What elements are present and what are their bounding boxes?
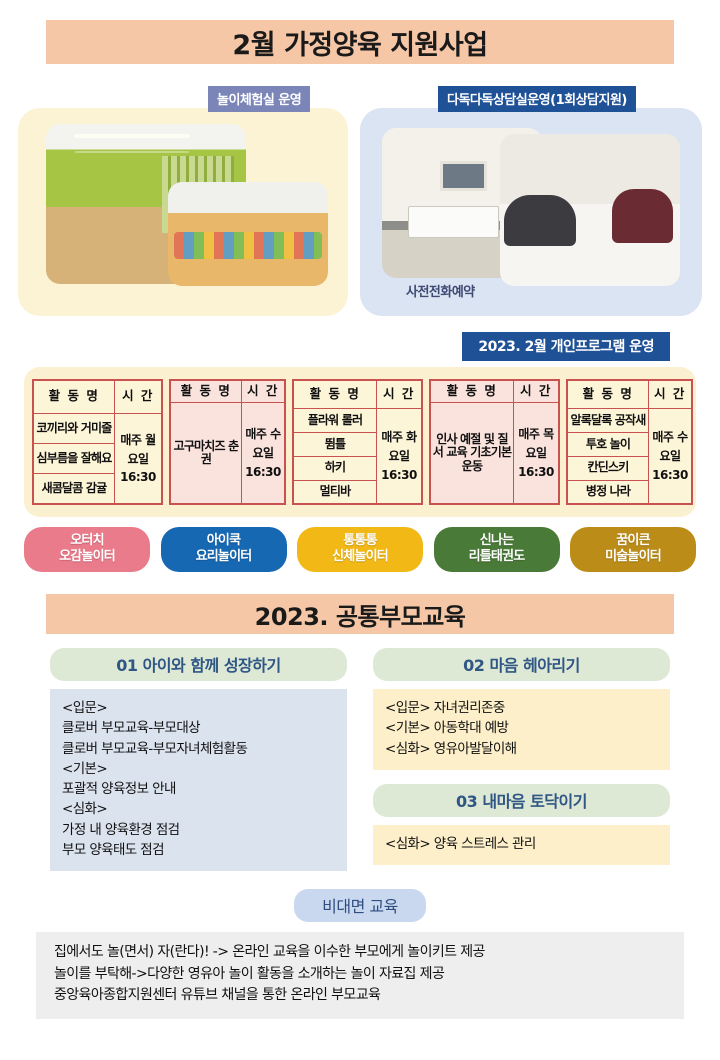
activity-cell: 인사 예절 및 질서 교육 기초기본 운동 (430, 403, 514, 505)
activity-cell: 플라워 롤러 (293, 409, 377, 433)
pill-line-1: 아이쿡 (165, 533, 283, 549)
activity-cell: 병정 나라 (567, 480, 649, 504)
table-header-row: 활 동 명 시 간 (293, 380, 422, 409)
col-header-time: 시 간 (115, 380, 163, 414)
photo-tag-play-room: 놀이체험실 운영 (208, 86, 310, 112)
col-header-time: 시 간 (514, 380, 560, 403)
activity-cell: 알록달록 공작새 (567, 409, 649, 433)
col-header-time: 시 간 (377, 380, 423, 409)
edu-column-left: 01 아이와 함께 성장하기 <입문> 클로버 부모교육-부모대상 클로버 부모… (50, 648, 347, 871)
program-banner-row: 2023. 2월 개인프로그램 운영 (0, 332, 702, 361)
time-cell: 매주 수요일 16:30 (242, 403, 286, 505)
table-row: 플라워 롤러 매주 화요일 16:30 (293, 409, 422, 433)
activity-cell: 코끼리와 거미줄 (33, 414, 115, 444)
col-header-activity: 활 동 명 (567, 380, 649, 409)
program-pill-body[interactable]: 통통통 신체놀이터 (297, 527, 423, 572)
pill-line-1: 통통통 (301, 533, 419, 549)
time-cell: 매주 화요일 16:30 (377, 409, 423, 505)
table-header-row: 활 동 명 시 간 (170, 380, 285, 403)
program-pill-icook[interactable]: 아이쿡 요리놀이터 (161, 527, 287, 572)
program-pill-taekwondo[interactable]: 신나는 리틀태권도 (434, 527, 560, 572)
time-cell: 매주 수요일 16:30 (649, 409, 693, 505)
photo-row: 놀이체험실 운영 다독다독상담실운영(1회상담지원) 사전전화예약 (18, 86, 702, 316)
program-banner: 2023. 2월 개인프로그램 운영 (462, 332, 670, 361)
col-header-activity: 활 동 명 (430, 380, 514, 403)
counseling-room-photo-b (500, 134, 680, 286)
activity-cell: 뜀틀 (293, 433, 377, 457)
time-cell: 매주 목요일 16:30 (514, 403, 560, 505)
table-row: 인사 예절 및 질서 교육 기초기본 운동 매주 목요일 16:30 (430, 403, 559, 505)
edu-section-head-01: 01 아이와 함께 성장하기 (50, 648, 347, 681)
table-header-row: 활 동 명 시 간 (430, 380, 559, 403)
col-header-time: 시 간 (242, 380, 286, 403)
schedule-tables-band: 활 동 명 시 간 코끼리와 거미줄 매주 월요일 16:30 심부름을 잘해요… (24, 367, 696, 517)
col-header-activity: 활 동 명 (293, 380, 377, 409)
activity-cell: 하키 (293, 456, 377, 480)
online-education-body: 집에서도 놀(면서) 자(란다)! -> 온라인 교육을 이수한 부모에게 놀이… (36, 932, 684, 1019)
table-row: 알록달록 공작새 매주 수요일 16:30 (567, 409, 692, 433)
edu-section-body-01: <입문> 클로버 부모교육-부모대상 클로버 부모교육-부모자녀체험활동 <기본… (50, 689, 347, 871)
online-education-head-row: 비대면 교육 (0, 889, 720, 922)
col-header-time: 시 간 (649, 380, 693, 409)
photo-caption-reservation: 사전전화예약 (406, 281, 475, 300)
time-cell: 매주 월요일 16:30 (115, 414, 163, 505)
program-pill-art[interactable]: 꿈이큰 미술놀이터 (570, 527, 696, 572)
activity-cell: 멀티바 (293, 480, 377, 504)
program-pills-row: 오터치 오감놀이터 아이쿡 요리놀이터 통통통 신체놀이터 신나는 리틀태권도 … (24, 527, 696, 572)
photo-block-play-room: 놀이체험실 운영 (18, 86, 348, 316)
table-row: 코끼리와 거미줄 매주 월요일 16:30 (33, 414, 162, 444)
activity-cell: 칸딘스키 (567, 456, 649, 480)
schedule-table-3: 활 동 명 시 간 플라워 롤러 매주 화요일 16:30 뜀틀 하키 멀티바 (292, 379, 423, 505)
activity-cell: 심부름을 잘해요 (33, 444, 115, 474)
table-row: 고구마치즈 춘권 매주 수요일 16:30 (170, 403, 285, 505)
schedule-table-5: 활 동 명 시 간 알록달록 공작새 매주 수요일 16:30 투호 놀이 칸딘… (566, 379, 693, 505)
edu-section-head-03: 03 내마음 토닥이기 (373, 784, 670, 817)
schedule-table-1: 활 동 명 시 간 코끼리와 거미줄 매주 월요일 16:30 심부름을 잘해요… (32, 379, 163, 505)
table-header-row: 활 동 명 시 간 (33, 380, 162, 414)
edu-section-body-03: <심화> 양육 스트레스 관리 (373, 825, 670, 865)
online-education-head: 비대면 교육 (294, 889, 426, 922)
edu-section-head-02: 02 마음 헤아리기 (373, 648, 670, 681)
schedule-table-4: 활 동 명 시 간 인사 예절 및 질서 교육 기초기본 운동 매주 목요일 1… (429, 379, 560, 505)
edu-section-body-02: <입문> 자녀권리존중 <기본> 아동학대 예방 <심화> 영유아발달이해 (373, 689, 670, 770)
pill-line-2: 신체놀이터 (301, 549, 419, 565)
parent-education-title: 2023. 공통부모교육 (46, 594, 674, 634)
edu-column-right: 02 마음 헤아리기 <입문> 자녀권리존중 <기본> 아동학대 예방 <심화>… (373, 648, 670, 871)
parent-education-grid: 01 아이와 함께 성장하기 <입문> 클로버 부모교육-부모대상 클로버 부모… (50, 648, 670, 871)
table-header-row: 활 동 명 시 간 (567, 380, 692, 409)
pill-line-2: 리틀태권도 (438, 549, 556, 565)
activity-cell: 투호 놀이 (567, 433, 649, 457)
col-header-activity: 활 동 명 (170, 380, 242, 403)
pill-line-2: 오감놀이터 (28, 549, 146, 565)
pill-line-2: 미술놀이터 (574, 549, 692, 565)
pill-line-1: 오터치 (28, 533, 146, 549)
photo-tag-counseling-room: 다독다독상담실운영(1회상담지원) (438, 86, 636, 112)
photo-card-counseling-room: 사전전화예약 (360, 108, 702, 316)
pill-line-1: 신나는 (438, 533, 556, 549)
activity-cell: 고구마치즈 춘권 (170, 403, 242, 505)
play-room-photo-b (168, 182, 328, 286)
activity-cell: 새콤달콤 감귤 (33, 474, 115, 505)
program-pill-otouch[interactable]: 오터치 오감놀이터 (24, 527, 150, 572)
col-header-activity: 활 동 명 (33, 380, 115, 414)
pill-line-2: 요리놀이터 (165, 549, 283, 565)
photo-block-counseling-room: 다독다독상담실운영(1회상담지원) 사전전화예약 (360, 86, 702, 316)
schedule-table-2: 활 동 명 시 간 고구마치즈 춘권 매주 수요일 16:30 (169, 379, 286, 505)
page-title: 2월 가정양육 지원사업 (46, 20, 674, 64)
photo-card-play-room (18, 108, 348, 316)
pill-line-1: 꿈이큰 (574, 533, 692, 549)
